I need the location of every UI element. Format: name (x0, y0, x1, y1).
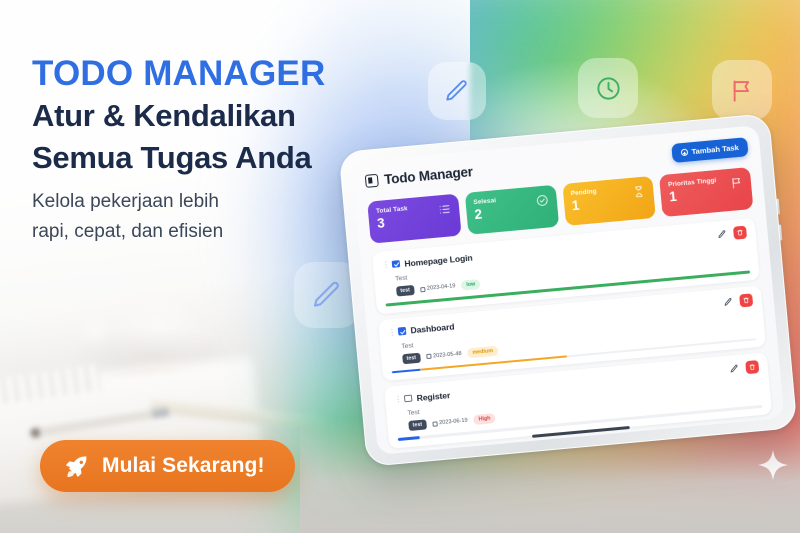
task-title: Register (416, 390, 450, 403)
floating-tile-pencil (428, 62, 486, 120)
task-category-chip: test (402, 352, 420, 364)
delete-task-button[interactable] (733, 226, 747, 240)
calendar-icon (432, 421, 437, 426)
trash-icon (742, 296, 750, 304)
trash-icon (736, 229, 744, 237)
poster-canvas: TODO MANAGER Atur & Kendalikan Semua Tug… (0, 0, 800, 533)
stat-value: 2 (474, 206, 498, 222)
task-priority-chip: medium (467, 345, 498, 358)
calendar-icon (420, 286, 425, 291)
pencil-icon (444, 78, 470, 104)
task-title: Dashboard (410, 322, 455, 336)
app-brand: Todo Manager (365, 164, 474, 189)
add-task-button-label: Tambah Task (691, 143, 739, 156)
stat-value: 3 (377, 214, 410, 230)
calendar-icon (426, 354, 431, 359)
delete-task-button[interactable] (745, 360, 759, 374)
task-checkbox[interactable] (404, 395, 412, 403)
stat-card-total-task[interactable]: Total Task 3 (367, 194, 461, 244)
task-checkbox[interactable] (392, 260, 400, 268)
task-progress-fill (398, 436, 420, 441)
edit-task-button[interactable] (715, 227, 729, 241)
sparkle-icon (756, 448, 790, 482)
hero-kicker: TODO MANAGER (32, 56, 392, 93)
stat-label: Pending (570, 188, 596, 197)
flag-icon (729, 176, 743, 190)
start-now-cta-button[interactable]: Mulai Sekarang! (40, 440, 295, 492)
task-progress-fill-accent (392, 368, 421, 373)
pencil-icon (723, 297, 733, 307)
delete-task-button[interactable] (739, 293, 753, 307)
hero-subtext-line-1: Kelola pekerjaan lebih (32, 188, 392, 216)
drag-handle-icon[interactable]: ⋮ (394, 395, 400, 404)
trash-icon (748, 364, 756, 372)
task-checkbox[interactable] (398, 327, 406, 335)
check-circle-icon (535, 193, 549, 207)
stat-value: 1 (571, 197, 598, 213)
task-due-date: 2023-04-19 (420, 283, 456, 292)
rocket-icon (64, 453, 90, 479)
list-icon (437, 202, 451, 216)
task-priority-chip: low (461, 279, 481, 291)
flag-icon (729, 77, 756, 104)
stat-value: 1 (669, 186, 718, 204)
floating-tile-clock (578, 58, 638, 118)
app-logo-icon (365, 174, 379, 188)
hero-subtext-line-2: rapi, cepat, dan efisien (32, 218, 392, 246)
drag-handle-icon[interactable]: ⋮ (382, 260, 388, 269)
app-brand-name: Todo Manager (384, 164, 474, 187)
task-category-chip: test (408, 420, 426, 432)
clock-icon (595, 75, 622, 102)
task-due-date: 2023-06-19 (432, 418, 468, 427)
stat-card-selesai[interactable]: Selesai 2 (465, 185, 559, 235)
stat-card-pending[interactable]: Pending 1 (562, 176, 656, 226)
task-priority-chip: High (473, 413, 496, 425)
cta-label: Mulai Sekarang! (102, 454, 265, 478)
hero-headline-line-2: Semua Tugas Anda (32, 139, 392, 177)
task-due-date-text: 2023-06-19 (439, 418, 468, 427)
tablet-screen: Todo Manager Tambah Task Total Task 3 (352, 125, 785, 455)
hero-headline-line-1: Atur & Kendalikan (32, 97, 392, 135)
task-category-chip: test (396, 285, 414, 297)
pencil-icon (717, 229, 727, 239)
plus-circle-icon (680, 149, 688, 157)
task-due-date-text: 2023-05-48 (433, 351, 462, 360)
add-task-button[interactable]: Tambah Task (671, 137, 749, 163)
pencil-icon-large (311, 279, 343, 311)
floating-tile-flag (712, 60, 772, 120)
edit-task-button[interactable] (721, 295, 735, 309)
task-due-date: 2023-05-48 (426, 351, 462, 360)
drag-handle-icon[interactable]: ⋮ (388, 328, 394, 337)
task-title: Homepage Login (404, 252, 473, 268)
tablet-device: Todo Manager Tambah Task Total Task 3 (339, 113, 798, 467)
hero-text-block: TODO MANAGER Atur & Kendalikan Semua Tug… (32, 56, 392, 245)
hourglass-icon (632, 185, 646, 199)
pencil-icon (729, 364, 739, 374)
stat-label: Selesai (473, 197, 496, 206)
task-due-date-text: 2023-04-19 (427, 283, 456, 292)
edit-task-button[interactable] (727, 362, 741, 376)
stat-card-prioritas-tinggi[interactable]: Prioritas Tinggi 1 (659, 167, 753, 217)
